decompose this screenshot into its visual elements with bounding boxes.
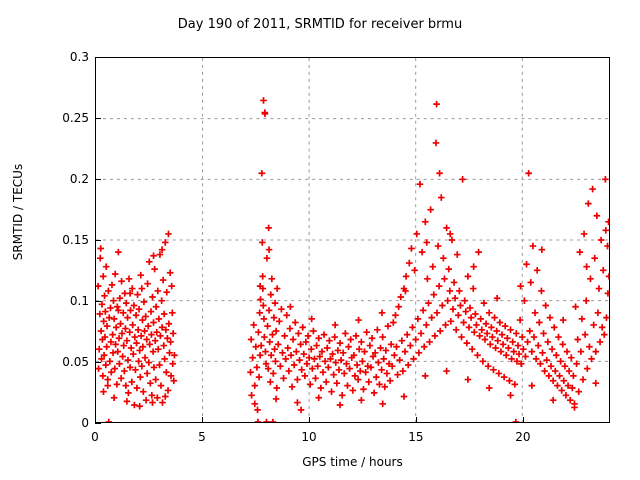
y-tick-mark [95, 423, 101, 424]
plot-area [95, 57, 610, 423]
x-tick-mark [95, 417, 96, 423]
y-tick-mark [95, 240, 101, 241]
x-tick-mark [309, 417, 310, 423]
y-tick-label: 0.3 [33, 50, 89, 64]
y-tick-label: 0.2 [33, 172, 89, 186]
x-tick-label: 15 [408, 430, 423, 444]
y-tick-label: 0.1 [33, 294, 89, 308]
y-tick-label: 0.15 [33, 233, 89, 247]
y-tick-label: 0.05 [33, 355, 89, 369]
chart-container: Day 190 of 2011, SRMTID for receiver brm… [0, 0, 640, 480]
y-axis-title: SRMTID / TECUs [11, 132, 25, 292]
x-tick-mark [416, 417, 417, 423]
x-tick-label: 10 [301, 430, 316, 444]
y-tick-mark [95, 57, 101, 58]
y-tick-mark [95, 301, 101, 302]
y-tick-mark [95, 179, 101, 180]
y-tick-mark [95, 362, 101, 363]
x-tick-label: 20 [515, 430, 530, 444]
x-axis-tick-labels: 05101520 [0, 430, 640, 450]
x-tick-label: 0 [91, 430, 99, 444]
y-tick-mark [95, 118, 101, 119]
y-axis-tick-labels: 00.050.10.150.20.250.3 [30, 0, 89, 480]
x-axis-title: GPS time / hours [95, 455, 610, 469]
scatter-markers [96, 97, 609, 422]
x-tick-mark [202, 417, 203, 423]
data-points-layer [96, 58, 609, 422]
chart-title: Day 190 of 2011, SRMTID for receiver brm… [0, 17, 640, 32]
y-tick-label: 0.25 [33, 111, 89, 125]
x-tick-label: 5 [198, 430, 206, 444]
y-tick-label: 0 [33, 416, 89, 430]
x-tick-mark [523, 417, 524, 423]
